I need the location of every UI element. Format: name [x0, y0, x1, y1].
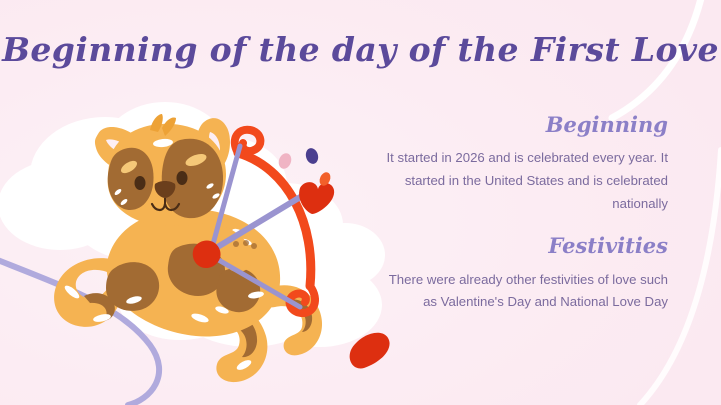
- confetti-dots-icon: [277, 147, 333, 188]
- slide-title: Beginning of the day of the First Love: [0, 30, 721, 69]
- cat-eye-left-icon: [135, 176, 146, 190]
- content-block-beginning: Beginning It started in 2026 and is cele…: [372, 112, 668, 215]
- content-column: Beginning It started in 2026 and is cele…: [372, 112, 668, 314]
- cat-nose-icon: [155, 181, 176, 198]
- cupid-cat-illustration: [54, 114, 322, 382]
- cat-eye-right-icon: [177, 171, 188, 185]
- cupid-bow-icon: [238, 153, 311, 286]
- arrow-heart-tip-icon: [299, 182, 334, 214]
- content-heading-beginning: Beginning: [372, 112, 668, 138]
- bow-curl-top-icon: [235, 130, 261, 153]
- presentation-slide: Beginning of the day of the First Love B…: [0, 0, 721, 405]
- bow-curl-bottom-icon: [290, 286, 315, 313]
- content-block-festivities: Festivities There were already other fes…: [372, 233, 668, 314]
- purple-ribbon-left-icon: [0, 255, 159, 405]
- arrow-nock-icon: [193, 241, 221, 269]
- bowstring-icon: [210, 146, 300, 307]
- content-heading-festivities: Festivities: [372, 233, 668, 259]
- arrow-shaft-icon: [206, 196, 302, 254]
- content-body-festivities: There were already other festivities of …: [372, 269, 668, 314]
- red-heart-bottom-icon: [350, 333, 390, 369]
- cloud-shape-icon: [0, 102, 385, 347]
- content-body-beginning: It started in 2026 and is celebrated eve…: [372, 147, 668, 215]
